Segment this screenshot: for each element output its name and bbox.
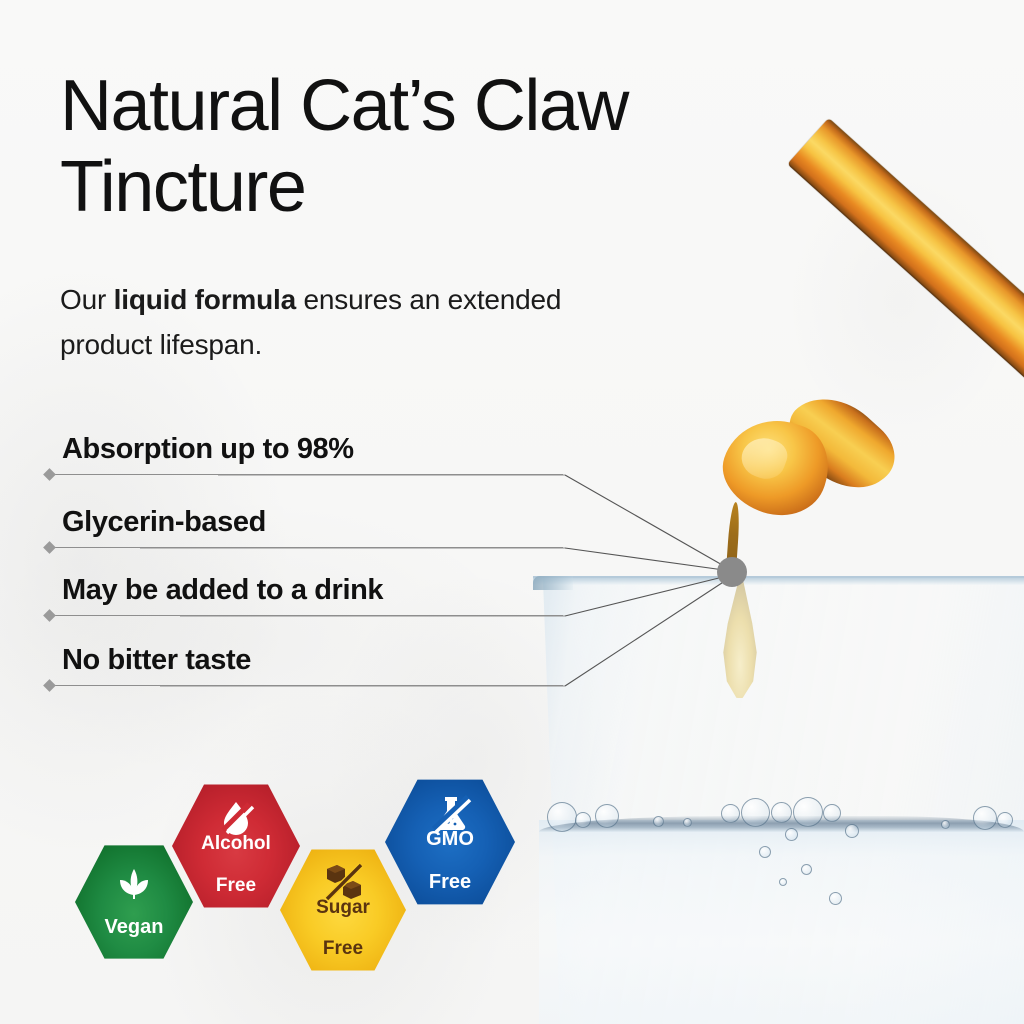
badge-vegan: Vegan bbox=[75, 843, 193, 961]
leader-line-hub bbox=[717, 557, 747, 587]
product-infographic: Natural Cat’s Claw Tincture Our liquid f… bbox=[0, 0, 1024, 1024]
badge-alcohol-free: Alcohol Free bbox=[172, 782, 300, 910]
leaf-icon bbox=[75, 863, 193, 909]
badge-label-line1: Alcohol bbox=[201, 834, 271, 853]
certification-badges: Vegan Alcohol Free bbox=[0, 0, 540, 1024]
badge-label: Vegan bbox=[105, 917, 164, 937]
badge-label-line1: GMO bbox=[426, 829, 474, 849]
badge-label-line2: Free bbox=[323, 939, 363, 958]
badge-label-line2: Free bbox=[216, 876, 256, 895]
badge-label-line2: Free bbox=[429, 872, 471, 892]
badge-gmo-free: GMO Free bbox=[385, 777, 515, 907]
badge-label-line1: Sugar bbox=[316, 898, 370, 917]
badge-sugar-free: Sugar Free bbox=[280, 847, 406, 973]
